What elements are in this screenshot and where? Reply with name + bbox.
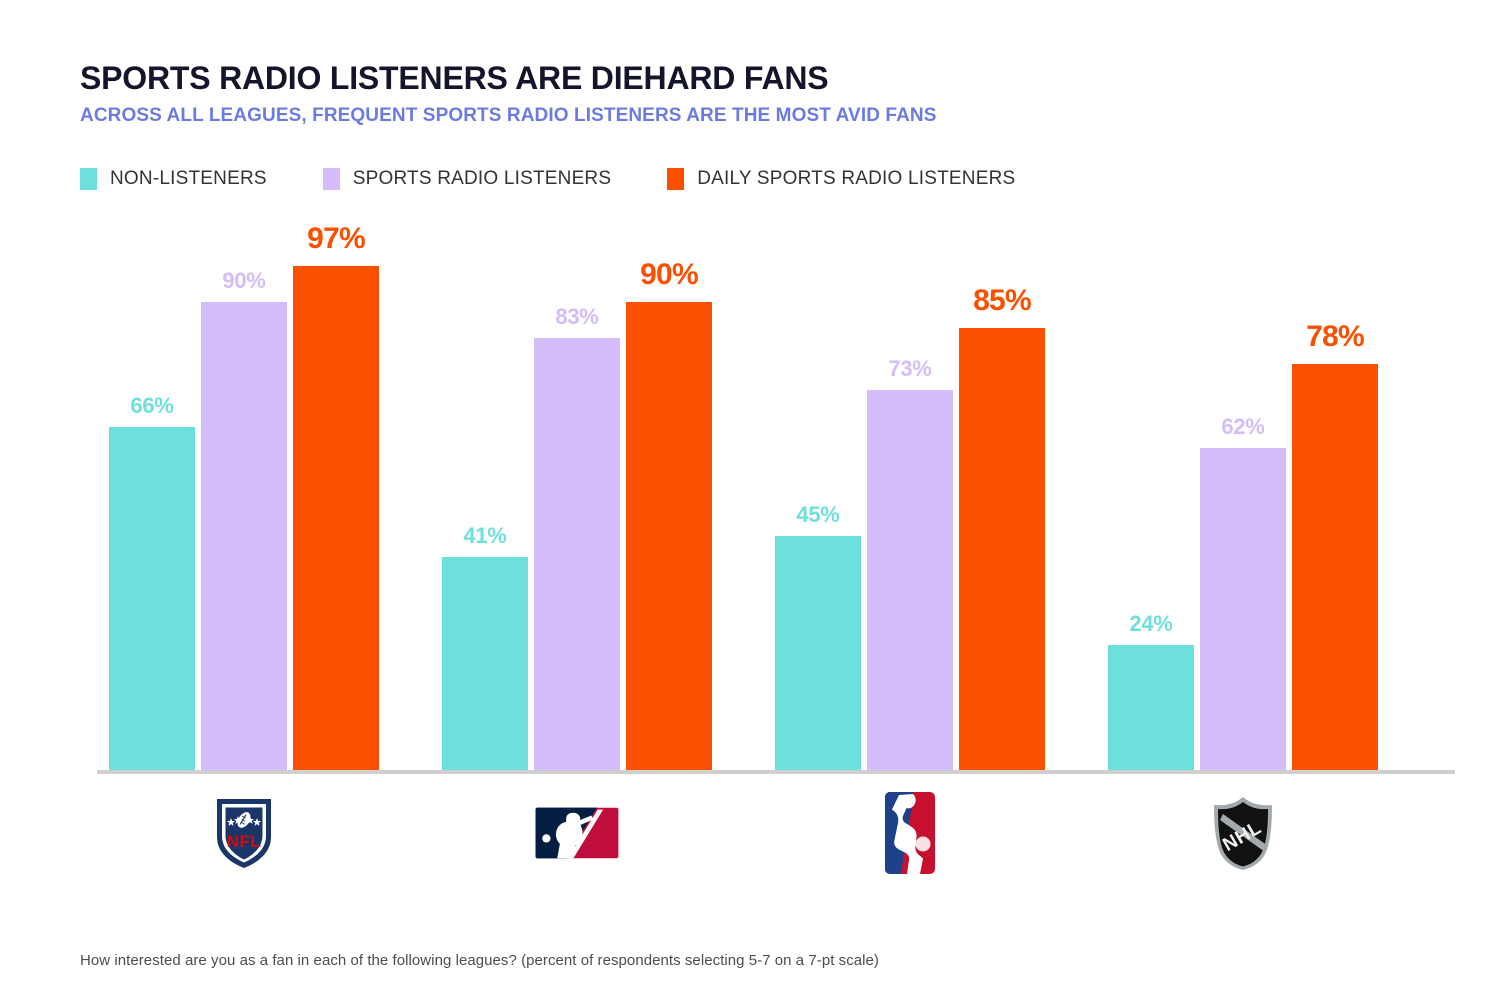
bar[interactable] — [109, 427, 195, 770]
svg-text:NFL: NFL — [227, 832, 262, 851]
bar[interactable] — [1292, 364, 1378, 770]
chart-header: SPORTS RADIO LISTENERS ARE DIEHARD FANS … — [80, 62, 1420, 127]
bar-value-label: 24% — [1129, 611, 1172, 637]
legend-swatch-icon — [667, 168, 684, 190]
nba-player-logo-icon — [865, 790, 955, 876]
legend-item-label: NON-LISTENERS — [110, 168, 267, 190]
legend-swatch-icon — [323, 168, 340, 190]
legend-item-non-listeners[interactable]: NON-LISTENERS — [80, 168, 267, 190]
bar-value-label: 73% — [888, 356, 931, 382]
chart-legend: NON-LISTENERS SPORTS RADIO LISTENERS DAI… — [80, 168, 1071, 190]
bar[interactable] — [442, 557, 528, 770]
bar[interactable] — [534, 338, 620, 770]
bar[interactable] — [1108, 645, 1194, 770]
legend-item-sports-radio-listeners[interactable]: SPORTS RADIO LISTENERS — [323, 168, 612, 190]
legend-swatch-icon — [80, 168, 97, 190]
bar-value-label: 90% — [640, 258, 698, 292]
nhl-shield-logo-icon: NHL — [1198, 790, 1288, 876]
bar-value-label: 66% — [130, 393, 173, 419]
bar[interactable] — [626, 302, 712, 770]
bar[interactable] — [293, 266, 379, 770]
page-title: SPORTS RADIO LISTENERS ARE DIEHARD FANS — [80, 62, 1420, 96]
bar-value-label: 90% — [222, 268, 265, 294]
x-axis-baseline — [97, 770, 1455, 774]
bar-chart-plot-area: 66%90%97%41%83%90%45%73%85%24%62%78% — [97, 250, 1455, 770]
bar[interactable] — [867, 390, 953, 770]
legend-item-label: DAILY SPORTS RADIO LISTENERS — [697, 168, 1015, 190]
bar-value-label: 78% — [1306, 320, 1364, 354]
bar-value-label: 62% — [1221, 414, 1264, 440]
chart-footnote: How interested are you as a fan in each … — [80, 952, 879, 969]
bar-group-nba: 45%73%85% — [775, 250, 1045, 770]
bar[interactable] — [775, 536, 861, 770]
bar-group-mlb: 41%83%90% — [442, 250, 712, 770]
bar[interactable] — [201, 302, 287, 770]
bar-value-label: 85% — [973, 284, 1031, 318]
bar-group-nhl: 24%62%78% — [1108, 250, 1378, 770]
bar-value-label: 41% — [463, 523, 506, 549]
bar-value-label: 83% — [555, 304, 598, 330]
bar-value-label: 45% — [796, 502, 839, 528]
page-subtitle: ACROSS ALL LEAGUES, FREQUENT SPORTS RADI… — [80, 105, 1420, 127]
legend-item-daily-sports-radio-listeners[interactable]: DAILY SPORTS RADIO LISTENERS — [667, 168, 1015, 190]
bar-value-label: 97% — [307, 222, 365, 256]
bar[interactable] — [1200, 448, 1286, 770]
nfl-shield-logo-icon: NFL — [199, 790, 289, 876]
legend-item-label: SPORTS RADIO LISTENERS — [353, 168, 612, 190]
bar-group-nfl: 66%90%97% — [109, 250, 379, 770]
mlb-batter-logo-icon — [532, 790, 622, 876]
bar[interactable] — [959, 328, 1045, 770]
